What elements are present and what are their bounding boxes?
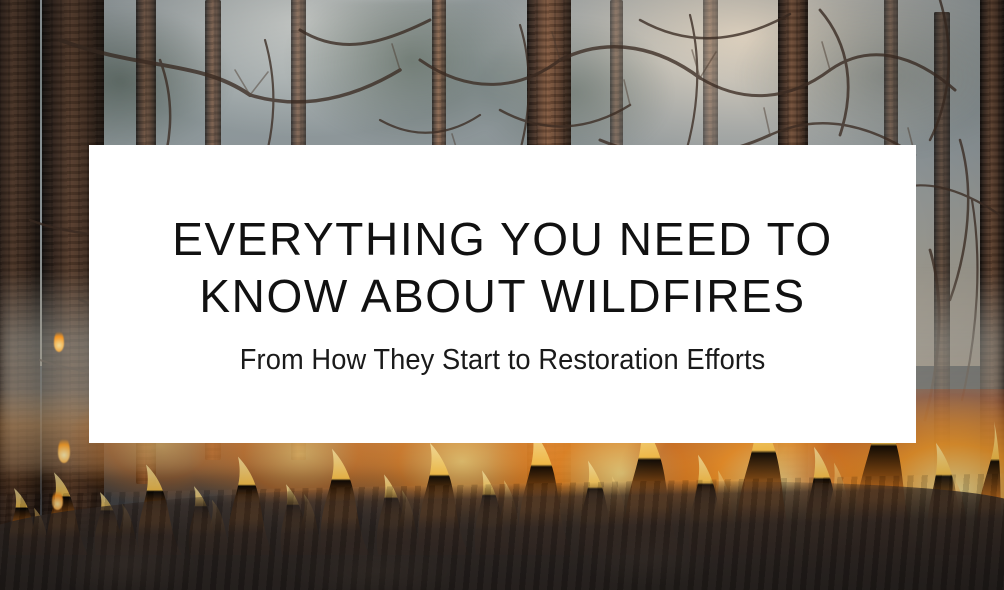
page-title-line-1: EVERYTHING YOU NEED TO (172, 213, 833, 265)
title-card: EVERYTHING YOU NEED TOKNOW ABOUT WILDFIR… (89, 145, 916, 443)
page-title: EVERYTHING YOU NEED TOKNOW ABOUT WILDFIR… (172, 211, 833, 325)
wildfire-article-hero-banner: EVERYTHING YOU NEED TOKNOW ABOUT WILDFIR… (0, 0, 1004, 590)
burnt-soil-foreground (0, 473, 1004, 590)
page-title-line-2: KNOW ABOUT WILDFIRES (199, 270, 805, 322)
bark-flame (54, 330, 64, 352)
page-subtitle: From How They Start to Restoration Effor… (240, 343, 766, 377)
